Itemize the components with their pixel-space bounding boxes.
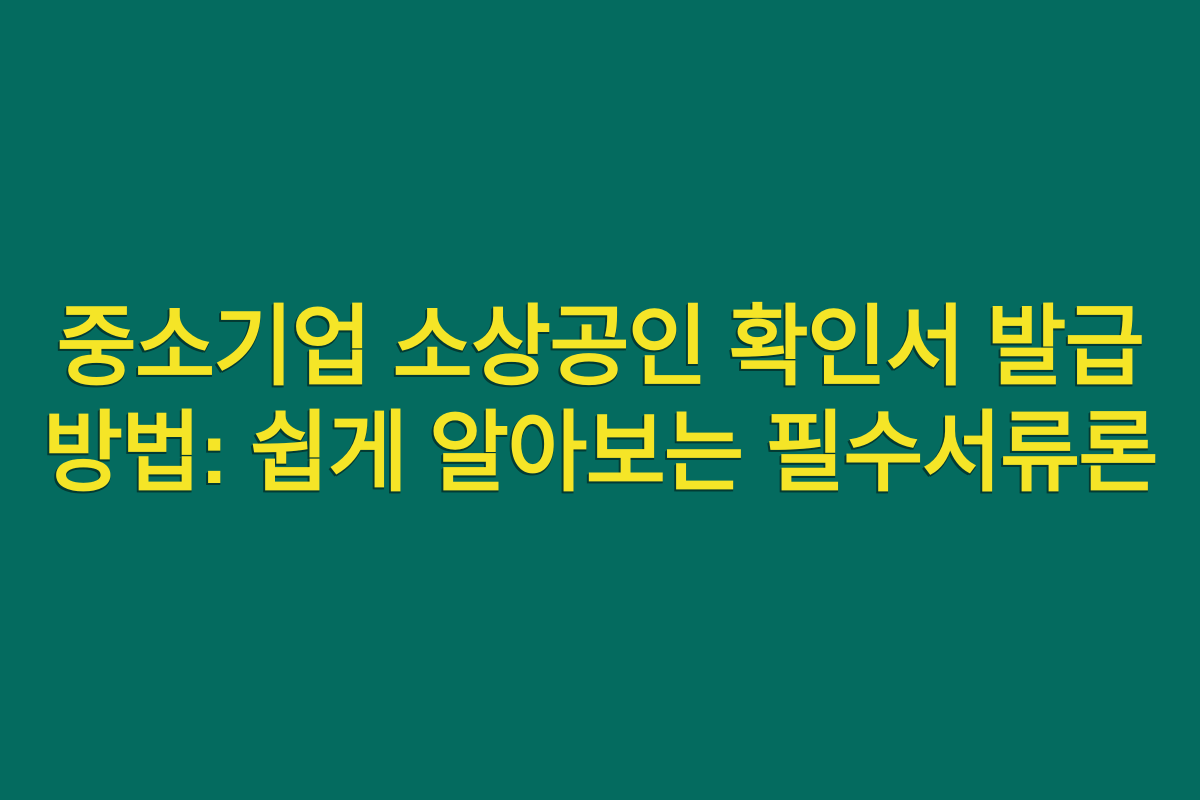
thumbnail-card: 중소기업 소상공인 확인서 발급 방법: 쉽게 알아보는 필수서류론 — [0, 0, 1200, 800]
title-line-1: 중소기업 소상공인 확인서 발급 — [38, 294, 1162, 400]
title-line-2: 방법: 쉽게 알아보는 필수서류론 — [38, 400, 1162, 506]
title-block: 중소기업 소상공인 확인서 발급 방법: 쉽게 알아보는 필수서류론 — [0, 294, 1200, 506]
